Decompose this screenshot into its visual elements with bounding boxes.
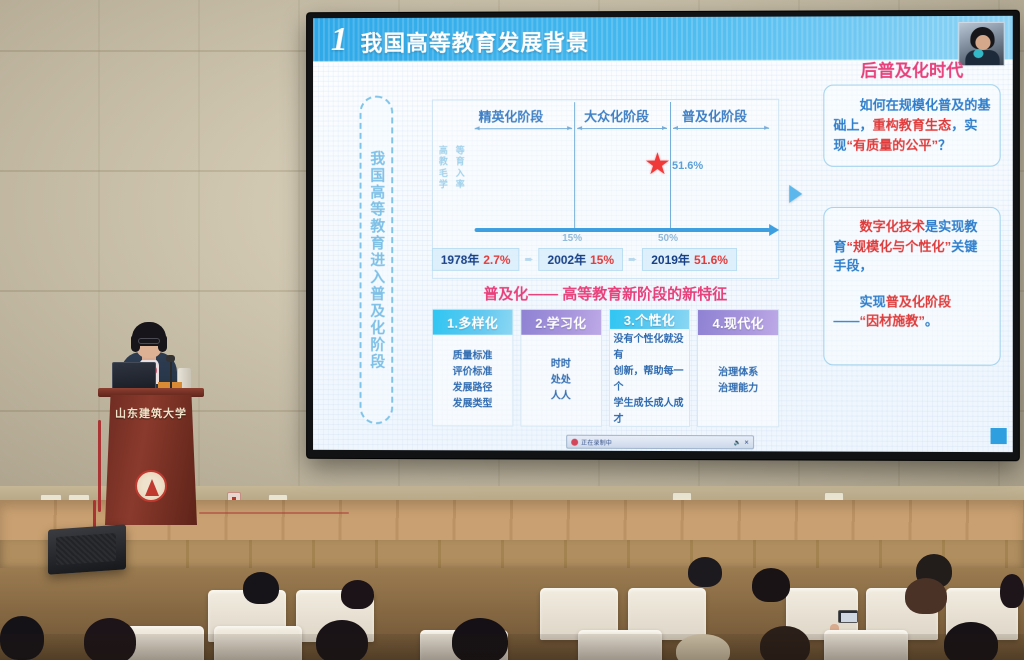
- card-body: 没有个性化就没有 创新，帮助每一个 学生成长成人成才: [610, 329, 690, 431]
- microphone-icon[interactable]: 🔈: [734, 439, 741, 446]
- card-body: 质量标准 评价标准 发展路径 发展类型: [433, 335, 512, 426]
- stage-label-universal: 普及化阶段: [682, 106, 747, 125]
- s2-a: 实现: [860, 294, 886, 309]
- microphone-stand: [170, 360, 172, 390]
- lecture-hall-scene: 1 我国高等教育发展背景 我国高等教育进入普及化阶段 精英化阶段 大: [0, 0, 1024, 660]
- q-highlight2: “有质量的公平”: [846, 138, 938, 153]
- statement-p1: 数字化技术是实现教育“规模化与个性化”关键手段，: [833, 217, 990, 276]
- card-line: 处处: [551, 372, 571, 388]
- s2-e: 。: [925, 313, 938, 328]
- card-line: 人人: [551, 388, 571, 404]
- card-line: 质量标准: [453, 348, 493, 364]
- milestone-year: 1978年: [441, 252, 479, 266]
- connector-arrow-icon: [789, 185, 802, 203]
- university-logo: [135, 470, 167, 502]
- milestone-1978: 1978年2.7%: [432, 247, 520, 270]
- stage-span-mass: [577, 128, 667, 129]
- statement-p2: 实现普及化阶段——“因材施教”。: [833, 292, 990, 331]
- right-panel-box-statement: 数字化技术是实现教育“规模化与个性化”关键手段， 实现普及化阶段——“因材施教”…: [823, 207, 1000, 366]
- feature-cards: 1.多样化 质量标准 评价标准 发展路径 发展类型 2.学习化 时时 处处 人人: [432, 309, 779, 428]
- microphone-head-icon: [166, 355, 175, 362]
- card-title: 4.现代化: [698, 310, 778, 335]
- milestone-value: 51.6%: [694, 253, 728, 267]
- front-row-shadow: [0, 634, 1024, 660]
- stage-cable: [199, 512, 349, 514]
- chart-y-axis-label: 高等教育毛入学率: [439, 145, 473, 190]
- speaker-hair-right: [158, 334, 167, 352]
- stage-label-elite: 精英化阶段: [479, 106, 544, 125]
- card-title: 2.学习化: [521, 310, 600, 335]
- audience-area: [0, 560, 1024, 660]
- milestone-value: 15%: [590, 252, 614, 266]
- speaker-glasses: [138, 338, 160, 344]
- presentation-display: 1 我国高等教育发展背景 我国高等教育进入普及化阶段 精英化阶段 大: [307, 11, 1019, 460]
- milestone-row: 1978年2.7% ➨ 2002年15% ➨ 2019年51.6%: [432, 248, 779, 270]
- card-line: 没有个性化就没有: [614, 332, 686, 364]
- close-icon[interactable]: ✕: [744, 439, 749, 446]
- slide-number: 1: [331, 21, 348, 59]
- audience-phone: [838, 610, 858, 623]
- card-body: 治理体系 治理能力: [698, 335, 778, 426]
- chart-x-axis: [475, 228, 771, 232]
- feature-card-diversification: 1.多样化 质量标准 评价标准 发展路径 发展类型: [432, 309, 513, 427]
- feature-card-modernization: 4.现代化 治理体系 治理能力: [697, 309, 779, 427]
- right-panel-box-question: 如何在规模化普及的基础上，重构教育生态，实现“有质量的公平”？: [823, 84, 1000, 167]
- card-line: 治理体系: [718, 365, 758, 381]
- corner-marker: [991, 428, 1007, 444]
- audience-head: [905, 578, 947, 614]
- s2-b: 普及化阶段: [886, 294, 952, 309]
- milestone-year: 2019年: [651, 252, 690, 266]
- recording-toolbar[interactable]: 正在录制中 🔈 ✕: [566, 435, 754, 450]
- audience-head: [1000, 574, 1024, 608]
- x-tick-50: 50%: [658, 233, 678, 244]
- features-heading: 普及化—— 高等教育新阶段的新特征: [432, 283, 779, 304]
- milestone-value: 2.7%: [483, 252, 510, 266]
- vertical-banner-text: 我国高等教育进入普及化阶段: [369, 150, 385, 370]
- feature-card-personalization: 3.个性化 没有个性化就没有 创新，帮助每一个 学生成长成人成才: [609, 309, 691, 427]
- audience-head: [341, 580, 374, 609]
- right-panel-heading: 后普及化时代: [821, 56, 1002, 82]
- s-a: 数字化技术: [860, 219, 925, 234]
- vertical-banner: 我国高等教育进入普及化阶段: [360, 96, 394, 425]
- podium-university-name: 山东建筑大学: [106, 405, 196, 421]
- card-line: 发展路径: [453, 380, 493, 396]
- slide-title: 我国高等教育发展背景: [361, 25, 590, 58]
- milestone-2019: 2019年51.6%: [642, 247, 737, 270]
- card-title: 1.多样化: [433, 310, 512, 335]
- feature-card-learning: 2.学习化 时时 处处 人人: [520, 309, 601, 427]
- x-tick-15: 15%: [562, 233, 582, 244]
- card-line: 创新，帮助每一个: [614, 364, 686, 396]
- s2-d: “因材施教”: [860, 313, 925, 328]
- card-line: 学生成长成人成才: [614, 396, 686, 428]
- stage-label-mass: 大众化阶段: [584, 106, 649, 125]
- audience-head: [752, 568, 790, 602]
- milestone-2002: 2002年15%: [539, 247, 623, 270]
- thumb-face: [975, 35, 990, 50]
- slide-title-bar: 1 我国高等教育发展背景: [313, 16, 1013, 62]
- card-body: 时时 处处 人人: [521, 335, 600, 426]
- s-c: “规模化与个性化”: [846, 239, 951, 254]
- presentation-slide: 1 我国高等教育发展背景 我国高等教育进入普及化阶段 精英化阶段 大: [313, 16, 1013, 452]
- card-line: 评价标准: [453, 364, 493, 380]
- card-line: 时时: [551, 356, 571, 372]
- s2-c: ——: [833, 313, 859, 328]
- stage-cable: [98, 420, 101, 512]
- presenter-laptop: [112, 362, 156, 390]
- card-line: 发展类型: [453, 396, 493, 412]
- audience-head: [688, 557, 722, 587]
- marker-value-label: 51.6%: [672, 160, 703, 172]
- card-title: 3.个性化: [610, 310, 690, 329]
- card-line: 治理能力: [718, 381, 758, 397]
- marker-star-icon: ★: [644, 152, 670, 178]
- audience-head: [243, 572, 279, 604]
- chip-arrow-icon: ➨: [524, 252, 533, 265]
- stage-divider-1: [574, 102, 575, 228]
- q-part3: ？: [938, 138, 951, 153]
- stage-span-universal: [673, 128, 769, 129]
- record-indicator-icon: [571, 438, 578, 445]
- record-label: 正在录制中: [581, 437, 612, 446]
- milestone-year: 2002年: [548, 252, 587, 266]
- chip-arrow-icon: ➨: [628, 252, 637, 265]
- stage-span-elite: [475, 128, 573, 129]
- q-highlight1: 重构教育生态: [873, 118, 952, 133]
